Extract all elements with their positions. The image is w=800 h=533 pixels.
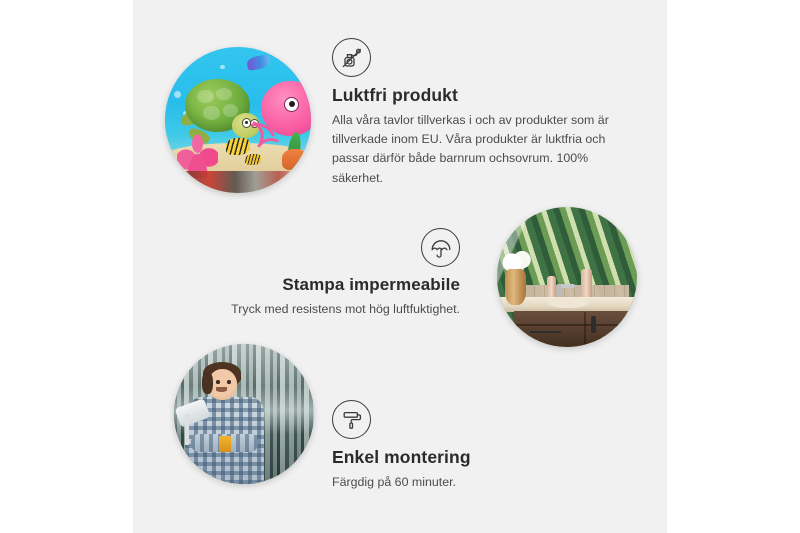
octopus-eye: [284, 97, 299, 112]
starfish: [282, 149, 308, 169]
page-root: Luktfri produkt Alla våra tavlor tillver…: [0, 0, 800, 533]
door-handle: [591, 316, 596, 333]
painter-hair-side: [202, 372, 213, 394]
bathroom-scene: [497, 207, 637, 347]
turtle-shell-segment: [223, 104, 238, 117]
turtle-shell-segment: [216, 88, 231, 101]
turtle-shell-segment: [197, 90, 214, 104]
feature-odourless: Luktfri produkt Alla våra tavlor tillver…: [332, 38, 624, 188]
sink-basin: [547, 299, 589, 307]
cabinet-seam: [514, 324, 632, 326]
bubble-icon: [220, 65, 224, 69]
no-fragrance-icon: [332, 38, 371, 77]
cabinet-seam: [584, 312, 586, 345]
painter-scene: [174, 344, 314, 484]
vase: [505, 269, 526, 305]
ocean-scene: [165, 47, 311, 193]
soap-dispenser: [581, 269, 592, 300]
photo-circle-bathroom: [497, 207, 637, 347]
paint-roller-icon: [332, 400, 371, 439]
feature-easy-mount: Enkel montering Färgdig på 60 minuter.: [332, 400, 572, 492]
feature-description: Tryck med resistens mot hög luftfuktighe…: [214, 300, 460, 319]
painter-eye: [216, 380, 220, 384]
paint-roller-handle: [185, 414, 189, 445]
ocean-foreground-strip: [165, 171, 311, 193]
soap-bottle: [547, 276, 555, 298]
drawer-handle: [530, 331, 561, 333]
feature-description: Alla våra tavlor tillverkas i och av pro…: [332, 111, 624, 188]
bubble-icon: [174, 91, 181, 98]
paint-can: [219, 436, 232, 451]
painter-smile: [216, 387, 227, 391]
feature-description: Färgdig på 60 minuter.: [332, 473, 572, 492]
vanity-cabinet: [514, 311, 632, 347]
feature-title: Luktfri produkt: [332, 85, 624, 106]
photo-circle-painter: [174, 344, 314, 484]
umbrella-icon: [421, 228, 460, 267]
feature-waterproof: Stampa impermeabile Tryck med resistens …: [214, 228, 460, 320]
fish-yellow: [226, 138, 249, 156]
turtle-shell-segment: [203, 106, 220, 120]
feature-title: Enkel montering: [332, 447, 572, 468]
photo-circle-ocean: [165, 47, 311, 193]
feature-title: Stampa impermeabile: [214, 275, 460, 295]
